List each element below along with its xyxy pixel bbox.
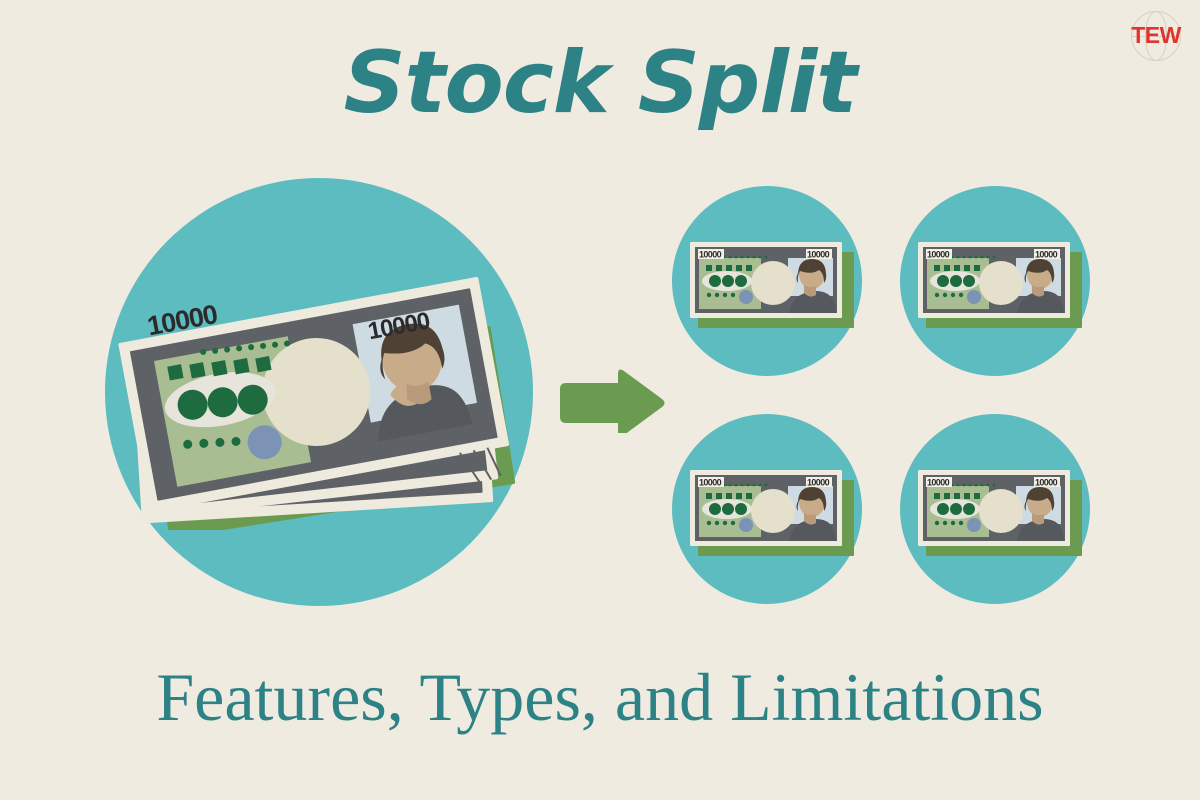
arrow-right-icon (556, 367, 668, 433)
banknote-denomination-left: 10000 (699, 250, 722, 260)
result-banknote-4: 10000 10000 (918, 470, 1082, 556)
result-banknote-1: 10000 10000 (690, 242, 854, 328)
banknote-denomination-right: 10000 (807, 250, 830, 260)
banknote-svg: 10000 10000 (918, 470, 1082, 556)
banknote-denomination-right: 10000 (1035, 478, 1058, 488)
banknote-denomination-right: 10000 (1035, 250, 1058, 260)
banknote-denomination-left: 10000 (927, 478, 950, 488)
banknote-svg: 10000 10000 (690, 470, 854, 556)
banknote-stack-svg: 10000 10000 (118, 270, 538, 530)
banknote-svg: 10000 10000 (690, 242, 854, 328)
result-banknote-3: 10000 10000 (690, 470, 854, 556)
banknote-denomination-left: 10000 (927, 250, 950, 260)
banknote-svg: 10000 10000 (918, 242, 1082, 328)
source-banknote-stack: 10000 10000 (118, 270, 538, 530)
banknote-denomination-left: 10000 (699, 478, 722, 488)
page-title: Stock Split (0, 36, 1200, 131)
poster-canvas: TEW Stock Split (0, 0, 1200, 800)
result-banknote-2: 10000 10000 (918, 242, 1082, 328)
banknote-denomination-right: 10000 (807, 478, 830, 488)
page-subtitle: Features, Types, and Limitations (0, 660, 1200, 735)
